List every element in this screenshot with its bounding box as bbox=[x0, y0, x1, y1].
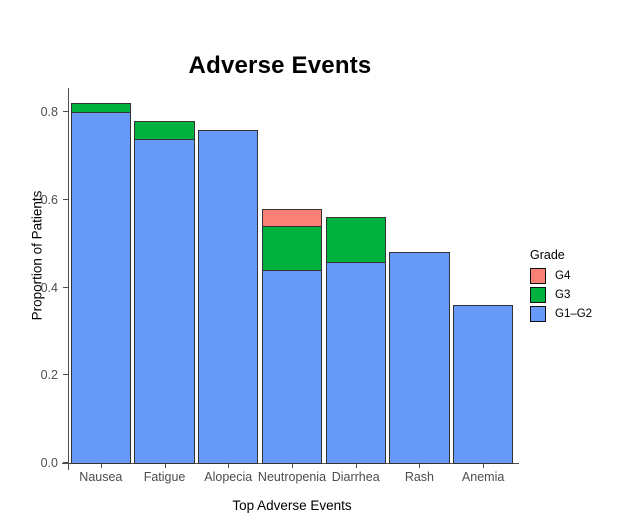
x-axis-ticks: NauseaFatigueAlopeciaNeutropeniaDiarrhea… bbox=[0, 463, 638, 493]
y-axis-tick-mark bbox=[63, 374, 68, 375]
x-axis-tick-mark bbox=[356, 463, 357, 468]
y-axis-tick-mark bbox=[63, 111, 68, 112]
legend-color-swatch bbox=[530, 306, 546, 322]
bar-segment[interactable] bbox=[71, 112, 131, 464]
x-axis-tick-mark bbox=[101, 463, 102, 468]
chart-title: Adverse Events bbox=[0, 52, 560, 80]
bar-segment[interactable] bbox=[389, 252, 449, 464]
bar-segment[interactable] bbox=[326, 217, 386, 262]
legend-item[interactable]: G3 bbox=[530, 285, 634, 304]
legend-title: Grade bbox=[530, 248, 634, 262]
legend-color-swatch bbox=[530, 268, 546, 284]
bar-group[interactable] bbox=[198, 95, 258, 463]
x-axis-tick-label: Diarrhea bbox=[332, 470, 380, 484]
legend-item-label: G3 bbox=[555, 288, 570, 302]
x-axis-title: Top Adverse Events bbox=[69, 498, 515, 513]
bar-group[interactable] bbox=[326, 95, 386, 463]
bar-segment[interactable] bbox=[71, 103, 131, 113]
x-axis-tick-mark bbox=[419, 463, 420, 468]
bar-group[interactable] bbox=[389, 95, 449, 463]
legend-item-label: G4 bbox=[555, 269, 570, 283]
legend: Grade G4G3G1–G2 bbox=[530, 248, 634, 323]
legend-entries: G4G3G1–G2 bbox=[530, 266, 634, 323]
bar-group[interactable] bbox=[262, 95, 322, 463]
y-axis-tick-mark bbox=[63, 199, 68, 200]
x-axis-tick-label: Anemia bbox=[462, 470, 504, 484]
bar-group[interactable] bbox=[134, 95, 194, 463]
bar-segment[interactable] bbox=[134, 121, 194, 140]
bar-group[interactable] bbox=[453, 95, 513, 463]
bar-segment[interactable] bbox=[326, 261, 386, 464]
x-axis-tick-label: Rash bbox=[405, 470, 434, 484]
y-axis-tick: 0.8 bbox=[0, 105, 68, 119]
bar-segment[interactable] bbox=[262, 270, 322, 464]
x-axis-tick-mark bbox=[292, 463, 293, 468]
plot-panel bbox=[69, 95, 515, 463]
bar-segment[interactable] bbox=[198, 130, 258, 465]
bar-segment[interactable] bbox=[262, 226, 322, 271]
bar-segment[interactable] bbox=[134, 138, 194, 464]
legend-item-label: G1–G2 bbox=[555, 307, 592, 321]
x-axis-tick-mark bbox=[165, 463, 166, 468]
bar-group[interactable] bbox=[71, 95, 131, 463]
y-axis-title: Proportion of Patients bbox=[30, 156, 45, 356]
x-axis-tick-label: Alopecia bbox=[204, 470, 252, 484]
y-axis-tick-mark bbox=[63, 287, 68, 288]
chart-figure: Adverse Events 0.00.20.40.60.8 Proportio… bbox=[0, 0, 638, 524]
x-axis-tick-label: Nausea bbox=[79, 470, 122, 484]
legend-item[interactable]: G1–G2 bbox=[530, 304, 634, 323]
y-axis-tick: 0.2 bbox=[0, 368, 68, 382]
x-axis-tick-mark bbox=[228, 463, 229, 468]
legend-color-swatch bbox=[530, 287, 546, 303]
y-axis-tick-label: 0.2 bbox=[41, 368, 58, 382]
legend-item[interactable]: G4 bbox=[530, 266, 634, 285]
x-axis-tick-mark bbox=[483, 463, 484, 468]
y-axis-tick-label: 0.8 bbox=[41, 105, 58, 119]
x-axis-tick-label: Neutropenia bbox=[258, 470, 326, 484]
bar-segment[interactable] bbox=[262, 209, 322, 228]
bar-segment[interactable] bbox=[453, 305, 513, 464]
x-axis-tick-label: Fatigue bbox=[144, 470, 186, 484]
